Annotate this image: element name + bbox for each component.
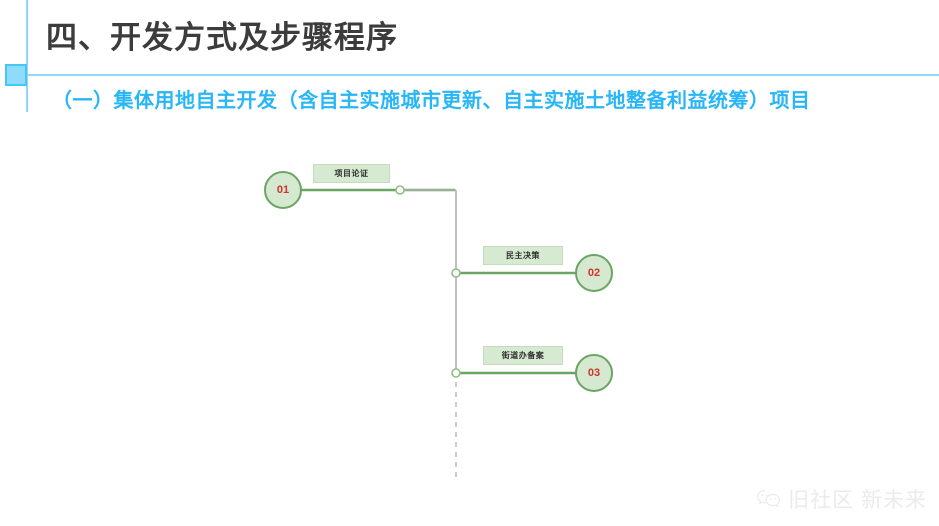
page-subtitle: （一）集体用地自主开发（含自主实施城市更新、自主实施土地整备利益统筹）项目 — [52, 84, 811, 113]
header-divider-line — [26, 74, 939, 76]
flow-node-label-03[interactable]: 街道办备案 — [483, 346, 563, 365]
watermark-text: 旧社区 新未来 — [788, 484, 927, 514]
flow-node-label-01[interactable]: 项目论证 — [313, 164, 390, 183]
watermark: 旧社区 新未来 — [756, 484, 927, 514]
connector-dot-01 — [396, 186, 404, 194]
header-decoration-vertical-line — [26, 0, 28, 112]
connector-dot-02 — [452, 269, 460, 277]
flow-node-label-02[interactable]: 民主决策 — [483, 246, 563, 265]
connector-dot-03 — [452, 369, 460, 377]
flow-node-circle-03[interactable]: 03 — [575, 354, 613, 392]
flow-node-circle-02[interactable]: 02 — [575, 254, 613, 292]
wechat-icon — [756, 488, 782, 510]
page-title: 四、开发方式及步骤程序 — [46, 12, 398, 57]
flowchart-connectors — [0, 0, 939, 526]
flow-node-circle-01[interactable]: 01 — [264, 171, 302, 209]
header-decoration-square — [5, 64, 27, 86]
